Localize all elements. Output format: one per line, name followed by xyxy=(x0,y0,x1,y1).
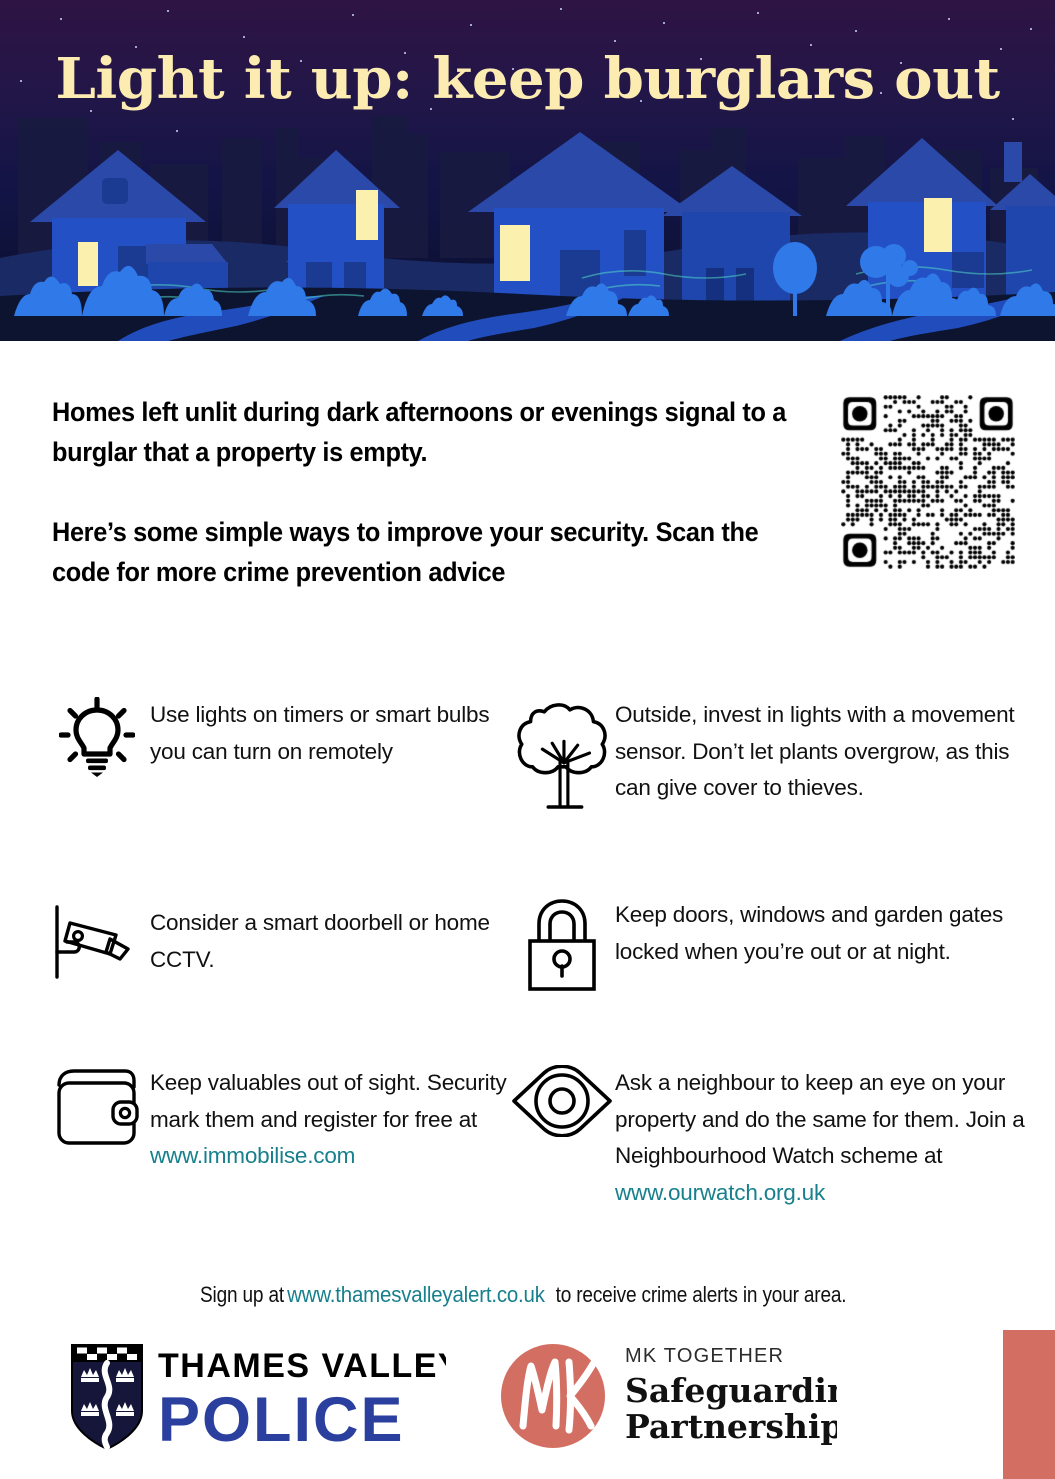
tips-row-3: Keep valuables out of sight. Security ma… xyxy=(44,1065,1029,1211)
tip-text-tree: Outside, invest in lights with a movemen… xyxy=(615,697,1029,807)
tip-item-cctv: Consider a smart doorbell or home CCTV. xyxy=(44,897,509,993)
signup-inner: Sign up at www.thamesvalleyalert.co.uk t… xyxy=(197,1282,858,1308)
tree-icon xyxy=(509,697,615,815)
mk-together-safeguarding-logo: MK TOGETHER Safeguarding Partnership xyxy=(497,1334,837,1459)
police-logo-line1: THAMES VALLEY xyxy=(158,1347,446,1385)
ourwatch-link[interactable]: www.ourwatch.org.uk xyxy=(615,1180,825,1205)
immobilise-link[interactable]: www.immobilise.com xyxy=(150,1143,355,1168)
lightbulb-icon xyxy=(44,697,150,777)
qr-code[interactable] xyxy=(841,395,1015,569)
tip-item-lightbulb: Use lights on timers or smart bulbs you … xyxy=(44,697,509,815)
tip-item-eye: Ask a neighbour to keep an eye on your p… xyxy=(509,1065,1029,1211)
signup-before: Sign up at xyxy=(200,1282,284,1308)
accent-bar xyxy=(1003,1330,1055,1479)
tip-text-padlock: Keep doors, windows and garden gates loc… xyxy=(615,897,1029,970)
mk-line1: Safeguarding xyxy=(625,1371,837,1410)
tip-item-padlock: Keep doors, windows and garden gates loc… xyxy=(509,897,1029,993)
mk-line2: Partnership xyxy=(625,1407,837,1446)
signup-after: to receive crime alerts in your area. xyxy=(556,1282,847,1308)
thames-valley-police-crest xyxy=(72,1345,142,1449)
mk-eyebrow: MK TOGETHER xyxy=(625,1345,784,1367)
padlock-icon xyxy=(509,897,615,993)
wallet-icon xyxy=(44,1065,150,1147)
tip-text-cctv: Consider a smart doorbell or home CCTV. xyxy=(150,905,509,978)
tip-text-lightbulb: Use lights on timers or smart bulbs you … xyxy=(150,697,509,770)
cctv-camera-icon xyxy=(44,905,150,979)
tips-row-2: Consider a smart doorbell or home CCTV. … xyxy=(44,897,1029,993)
tip-text-wallet: Keep valuables out of sight. Security ma… xyxy=(150,1065,509,1175)
signup-line: Sign up at www.thamesvalleyalert.co.uk t… xyxy=(0,1282,1055,1308)
tips-row-1: Use lights on timers or smart bulbs you … xyxy=(44,697,1029,815)
qr-code-canvas[interactable] xyxy=(841,395,1015,569)
intro-block: Homes left unlit during dark afternoons … xyxy=(52,392,842,592)
page-title: Light it up: keep burglars out xyxy=(0,46,1055,112)
intro-paragraph-2: Here’s some simple ways to improve your … xyxy=(52,512,806,592)
police-logo-line2: POLICE xyxy=(158,1385,405,1455)
thamesvalleyalert-link[interactable]: www.thamesvalleyalert.co.uk xyxy=(287,1282,545,1307)
tip-text-wallet-body: Keep valuables out of sight. Security ma… xyxy=(150,1070,507,1132)
tip-text-eye: Ask a neighbour to keep an eye on your p… xyxy=(615,1065,1029,1211)
header-banner: Light it up: keep burglars out xyxy=(0,0,1055,341)
tip-item-wallet: Keep valuables out of sight. Security ma… xyxy=(44,1065,509,1211)
eye-icon xyxy=(509,1065,615,1137)
thames-valley-police-logo: THAMES VALLEY POLICE xyxy=(66,1337,446,1460)
footer-logos: THAMES VALLEY POLICE MK TOGETHER Safegua… xyxy=(0,1330,1055,1479)
tip-text-eye-body: Ask a neighbour to keep an eye on your p… xyxy=(615,1070,1025,1168)
intro-paragraph-1: Homes left unlit during dark afternoons … xyxy=(52,392,806,472)
tip-item-tree: Outside, invest in lights with a movemen… xyxy=(509,697,1029,815)
tips-grid: Use lights on timers or smart bulbs you … xyxy=(44,697,1029,1211)
